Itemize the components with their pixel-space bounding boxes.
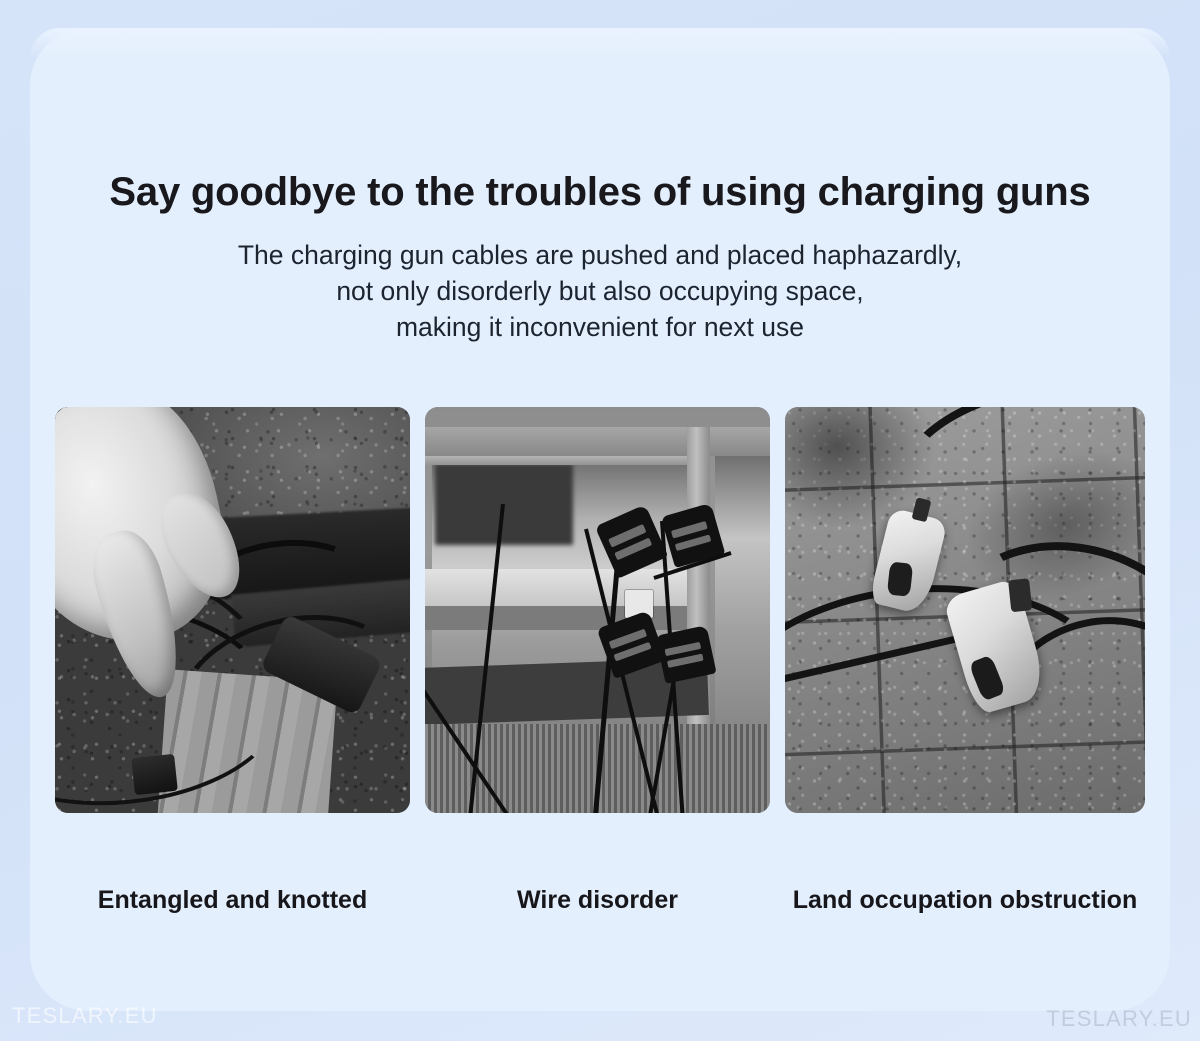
gun-nozzle xyxy=(1008,578,1032,612)
subtitle-line-3: making it inconvenient for next use xyxy=(0,309,1200,345)
photo-wire-disorder xyxy=(425,407,770,813)
photo-entangled-and-knotted xyxy=(55,407,410,813)
problem-image-gallery xyxy=(55,407,1145,813)
watermark-right: TESLARY.EU xyxy=(1046,1006,1192,1032)
photo-land-occupation-obstruction xyxy=(785,407,1145,813)
gun-handle-hole xyxy=(968,654,1006,701)
door-frame-top xyxy=(425,427,770,455)
cable-connector xyxy=(131,754,177,795)
watermark-left: TESLARY.EU xyxy=(12,1003,158,1029)
page-title: Say goodbye to the troubles of using cha… xyxy=(0,168,1200,216)
glass-pane-right xyxy=(715,456,770,748)
caption-wire-disorder: Wire disorder xyxy=(425,878,770,922)
gun-handle-hole xyxy=(886,561,912,596)
door-frame-rail xyxy=(425,456,701,466)
caption-entangled-and-knotted: Entangled and knotted xyxy=(55,878,410,922)
subtitle-block: The charging gun cables are pushed and p… xyxy=(0,237,1200,345)
promo-banner: Say goodbye to the troubles of using cha… xyxy=(0,0,1200,1041)
caption-land-occupation-obstruction: Land occupation obstruction xyxy=(785,878,1145,922)
caption-row: Entangled and knotted Wire disorder Land… xyxy=(55,878,1145,922)
subtitle-line-2: not only disorderly but also occupying s… xyxy=(0,273,1200,309)
content-layer: Say goodbye to the troubles of using cha… xyxy=(0,0,1200,1041)
subtitle-line-1: The charging gun cables are pushed and p… xyxy=(0,237,1200,273)
